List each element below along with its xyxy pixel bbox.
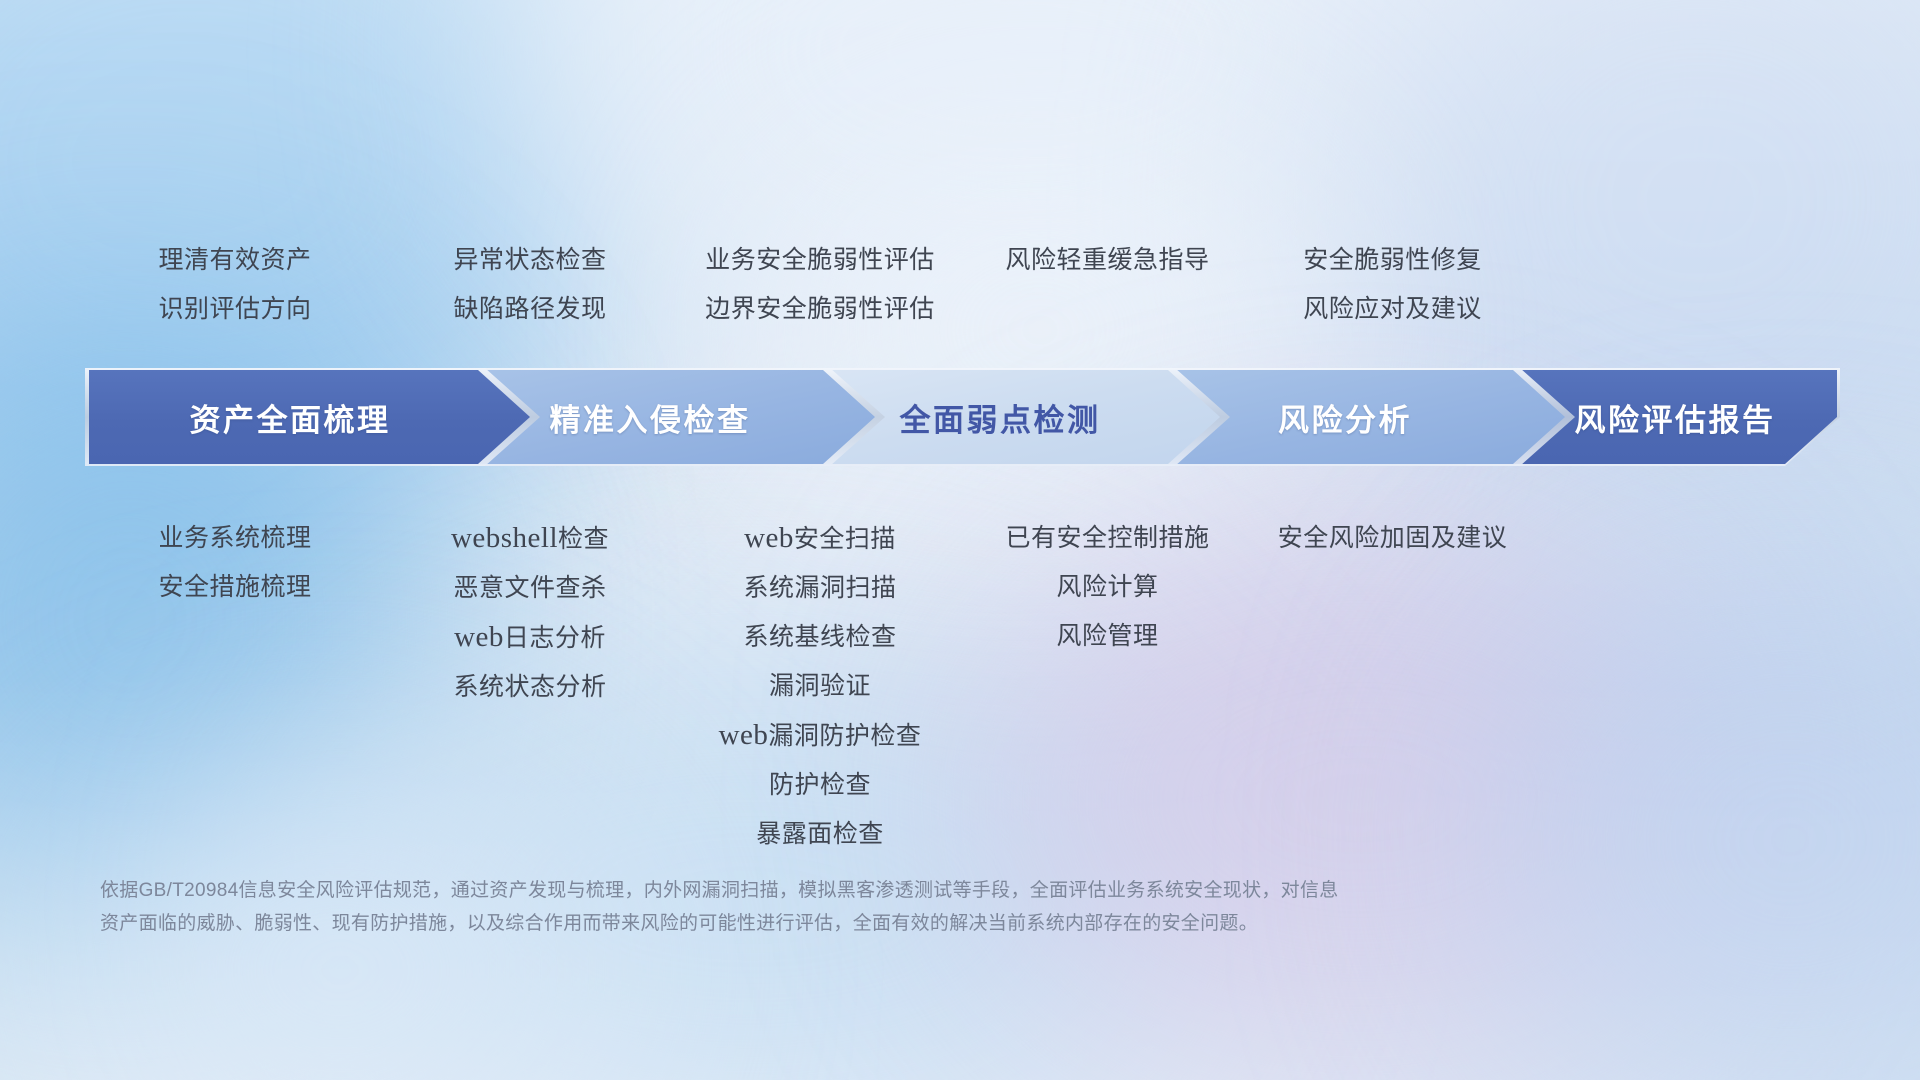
detail-item-latin: web — [454, 621, 504, 653]
detail-item: webshell检查 — [451, 514, 609, 564]
detail-item: 暴露面检查 — [756, 810, 884, 859]
detail-item: web日志分析 — [454, 613, 606, 663]
detail-item-cjk: 防护检查 — [769, 771, 871, 799]
caption-item: 识别评估方向 — [158, 285, 311, 334]
caption-item: 异常状态检查 — [453, 236, 606, 285]
stage-top-caption-group-risk-report: 安全脆弱性修复风险应对及建议 — [1250, 236, 1535, 334]
stage-top-caption-group-weakness-detection: 业务安全脆弱性评估边界安全脆弱性评估 — [675, 236, 965, 334]
detail-item-cjk: 安全措施梳理 — [158, 573, 311, 601]
detail-item-cjk: 系统状态分析 — [453, 673, 606, 701]
detail-item-cjk: 系统漏洞扫描 — [743, 574, 896, 602]
footer-line-2: 资产面临的威胁、脆弱性、现有防护措施，以及综合作用而带来风险的可能性进行评估，全… — [100, 907, 1660, 940]
detail-item: 系统漏洞扫描 — [743, 564, 896, 613]
detail-item: 风险计算 — [1056, 563, 1158, 612]
detail-item-cjk: 风险管理 — [1056, 622, 1158, 650]
arrow-shapes — [85, 368, 1840, 466]
process-arrow-band: 资产全面梳理精准入侵检查全面弱点检测风险分析风险评估报告 — [85, 368, 1840, 466]
detail-item: 系统基线检查 — [743, 613, 896, 662]
caption-item: 业务安全脆弱性评估 — [705, 236, 935, 285]
detail-item-cjk: 业务系统梳理 — [158, 524, 311, 552]
detail-item-cjk: 日志分析 — [504, 624, 606, 652]
detail-item-cjk: 风险计算 — [1056, 573, 1158, 601]
detail-item-cjk: 系统基线检查 — [743, 623, 896, 651]
detail-item: 漏洞验证 — [769, 662, 871, 711]
detail-item: 风险管理 — [1056, 612, 1158, 661]
detail-item: 防护检查 — [769, 761, 871, 810]
stage-top-caption-group-risk-analysis: 风险轻重缓急指导 — [965, 236, 1250, 334]
detail-item-cjk: 已有安全控制措施 — [1005, 524, 1209, 552]
detail-item: web漏洞防护检查 — [719, 711, 922, 761]
stage-top-caption-group-asset-inventory: 理清有效资产识别评估方向 — [85, 236, 385, 334]
footer-line-1: 依据GB/T20984信息安全风险评估规范，通过资产发现与梳理，内外网漏洞扫描，… — [100, 874, 1660, 907]
caption-item: 理清有效资产 — [158, 236, 311, 285]
slide-canvas: 理清有效资产识别评估方向异常状态检查缺陷路径发现业务安全脆弱性评估边界安全脆弱性… — [0, 0, 1920, 1080]
stage-bottom-caption-group-risk-analysis: 已有安全控制措施风险计算风险管理 — [965, 514, 1250, 859]
detail-item: 系统状态分析 — [453, 663, 606, 712]
caption-item: 安全脆弱性修复 — [1303, 236, 1482, 285]
detail-item: 安全风险加固及建议 — [1278, 514, 1508, 563]
detail-item-latin: web — [719, 719, 769, 751]
detail-item: web安全扫描 — [744, 514, 896, 564]
detail-item: 已有安全控制措施 — [1005, 514, 1209, 563]
caption-item: 缺陷路径发现 — [453, 285, 606, 334]
detail-item: 安全措施梳理 — [158, 563, 311, 612]
detail-item-cjk: 漏洞验证 — [769, 672, 871, 700]
slide-content: 理清有效资产识别评估方向异常状态检查缺陷路径发现业务安全脆弱性评估边界安全脆弱性… — [0, 0, 1920, 1080]
detail-item-cjk: 检查 — [558, 525, 609, 553]
stage-bottom-caption-group-risk-report: 安全风险加固及建议 — [1250, 514, 1535, 859]
detail-item: 业务系统梳理 — [158, 514, 311, 563]
caption-item: 风险应对及建议 — [1303, 285, 1482, 334]
caption-item: 风险轻重缓急指导 — [1005, 236, 1209, 285]
footer-description: 依据GB/T20984信息安全风险评估规范，通过资产发现与梳理，内外网漏洞扫描，… — [100, 874, 1660, 940]
detail-item-cjk: 安全风险加固及建议 — [1278, 524, 1508, 552]
stage-top-captions: 理清有效资产识别评估方向异常状态检查缺陷路径发现业务安全脆弱性评估边界安全脆弱性… — [85, 236, 1835, 334]
detail-item-cjk: 恶意文件查杀 — [453, 574, 606, 602]
stage-bottom-caption-group-weakness-detection: web安全扫描系统漏洞扫描系统基线检查漏洞验证web漏洞防护检查防护检查暴露面检… — [675, 514, 965, 859]
detail-item: 恶意文件查杀 — [453, 564, 606, 613]
stage-bottom-captions: 业务系统梳理安全措施梳理webshell检查恶意文件查杀web日志分析系统状态分… — [85, 514, 1835, 859]
stage-bottom-caption-group-intrusion-check: webshell检查恶意文件查杀web日志分析系统状态分析 — [385, 514, 675, 859]
stage-bottom-caption-group-asset-inventory: 业务系统梳理安全措施梳理 — [85, 514, 385, 859]
detail-item-cjk: 安全扫描 — [794, 525, 896, 553]
stage-top-caption-group-intrusion-check: 异常状态检查缺陷路径发现 — [385, 236, 675, 334]
detail-item-cjk: 漏洞防护检查 — [768, 722, 921, 750]
caption-item: 边界安全脆弱性评估 — [705, 285, 935, 334]
detail-item-latin: webshell — [451, 522, 558, 554]
detail-item-latin: web — [744, 522, 794, 554]
detail-item-cjk: 暴露面检查 — [756, 820, 884, 848]
